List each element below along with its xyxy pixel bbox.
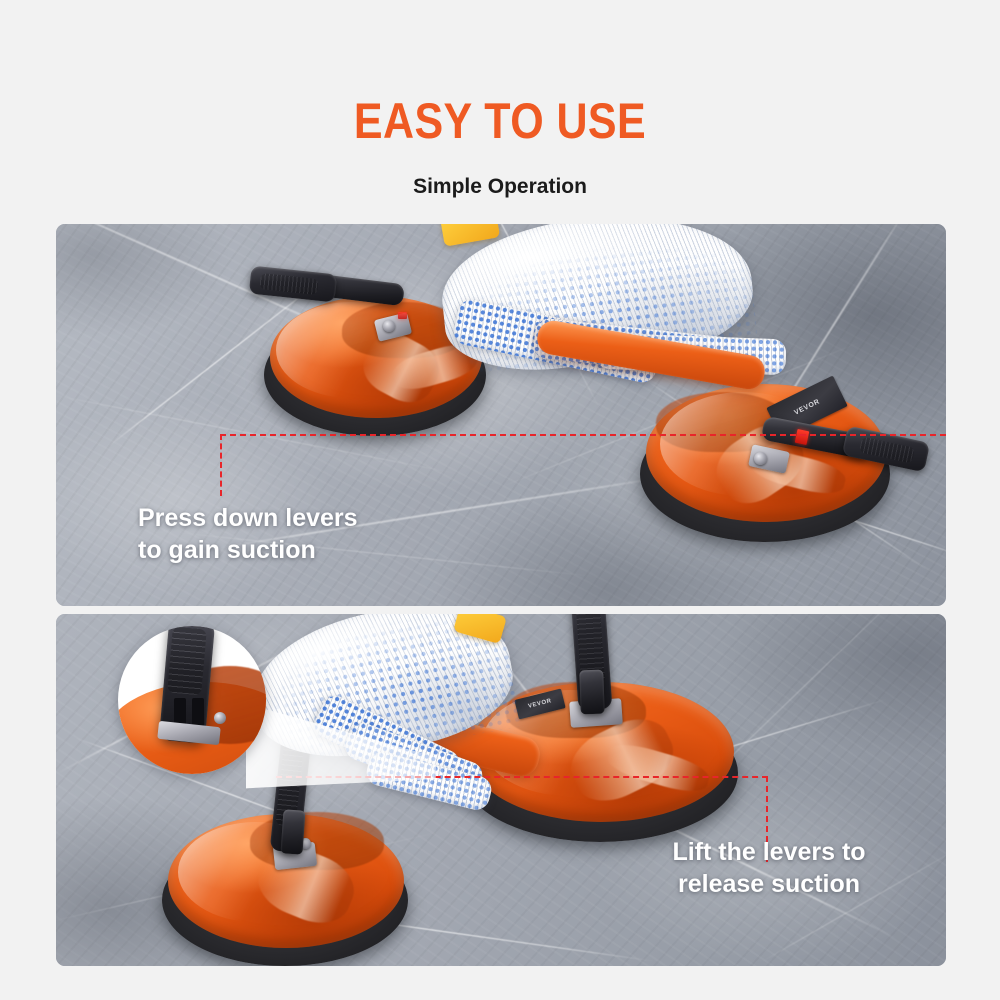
lever-pivot (383, 320, 395, 332)
suction-indicator (398, 312, 407, 319)
callout-line-horizontal (276, 776, 768, 778)
magnified-lever-pivot (214, 712, 226, 724)
page-title: EASY TO USE (70, 96, 930, 146)
callout-line-horizontal (220, 434, 946, 436)
lever-arm (280, 809, 305, 854)
magnified-lever-ribs (167, 627, 207, 696)
panel-caption: Lift the levers to release suction (614, 836, 924, 900)
suction-cup-right: VEVOR (630, 352, 898, 542)
magnifier-detail-circle (118, 626, 266, 774)
lever-pivot (754, 452, 767, 465)
magnified-lever-slot-2 (192, 698, 204, 726)
marketing-image: EASY TO USE Simple Operation (0, 0, 1000, 1000)
suction-cup-left (154, 790, 414, 966)
panel-caption: Press down levers to gain suction (138, 502, 358, 566)
lever-arm (579, 670, 605, 715)
callout-line-vertical (220, 434, 222, 496)
panel-press-down: VEVOR Press down levers to gain suct (56, 224, 946, 606)
page-subtitle: Simple Operation (0, 176, 1000, 197)
